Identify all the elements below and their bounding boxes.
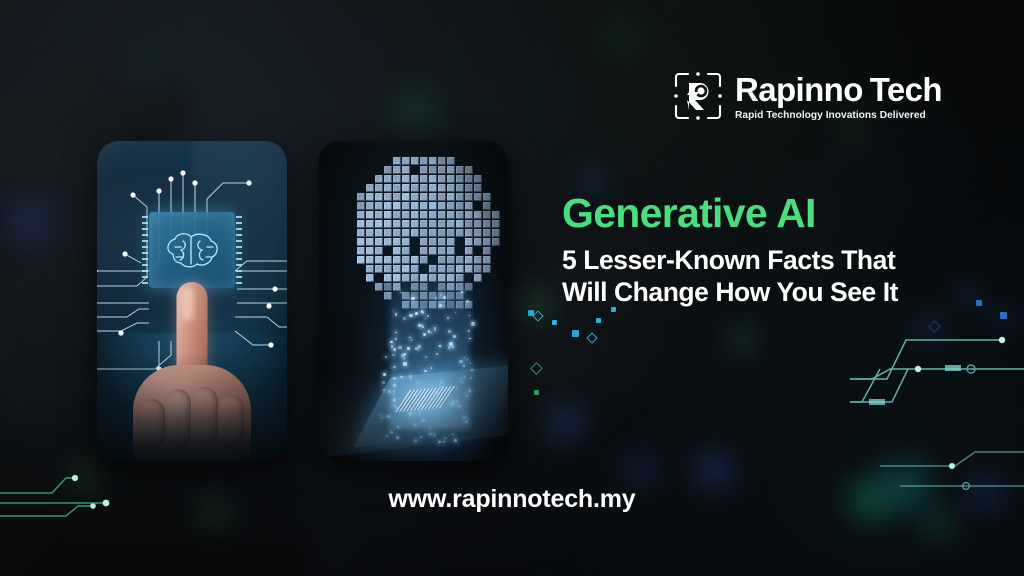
chip-dot [1000, 312, 1007, 319]
bokeh-light [548, 404, 584, 440]
chip-dot [534, 390, 539, 395]
brain-icon [163, 230, 221, 270]
chip-dot [572, 330, 579, 337]
brand-name-part-2: Tech [870, 71, 942, 108]
headline-line-2: Will Change How You See It [562, 276, 992, 309]
card-right-vignette [318, 141, 508, 461]
chip-dot [552, 320, 557, 325]
headline-line-1: 5 Lesser-Known Facts That [562, 244, 992, 277]
holographic-chip [149, 212, 235, 288]
card-left-bottom-shadow [97, 352, 287, 461]
website-url[interactable]: www.rapinnotech.my [0, 485, 1024, 514]
bokeh-light [580, 168, 604, 192]
rapinno-r-lightning-bracket-icon [672, 70, 724, 122]
bokeh-light [728, 326, 756, 354]
image-card-finger-brain-chip [97, 141, 287, 461]
brand-tagline: Rapid Technology Inovations Delivered [735, 110, 942, 121]
bokeh-light [120, 30, 180, 90]
headline-eyebrow: Generative AI [562, 192, 992, 235]
headline-block: Generative AI 5 Lesser-Known Facts That … [562, 192, 992, 309]
bokeh-light [392, 86, 440, 134]
bokeh-light [4, 196, 56, 248]
brand-name-part-1: Rapinno [735, 71, 863, 108]
bokeh-light [598, 14, 642, 58]
brand-logo[interactable]: RapinnoTech Rapid Technology Inovations … [672, 70, 942, 122]
brand-name: RapinnoTech [735, 73, 942, 107]
bokeh-light [694, 450, 734, 490]
bokeh-light [624, 454, 656, 486]
image-card-voxel-head-chip [318, 141, 508, 461]
chip-dot [596, 318, 601, 323]
